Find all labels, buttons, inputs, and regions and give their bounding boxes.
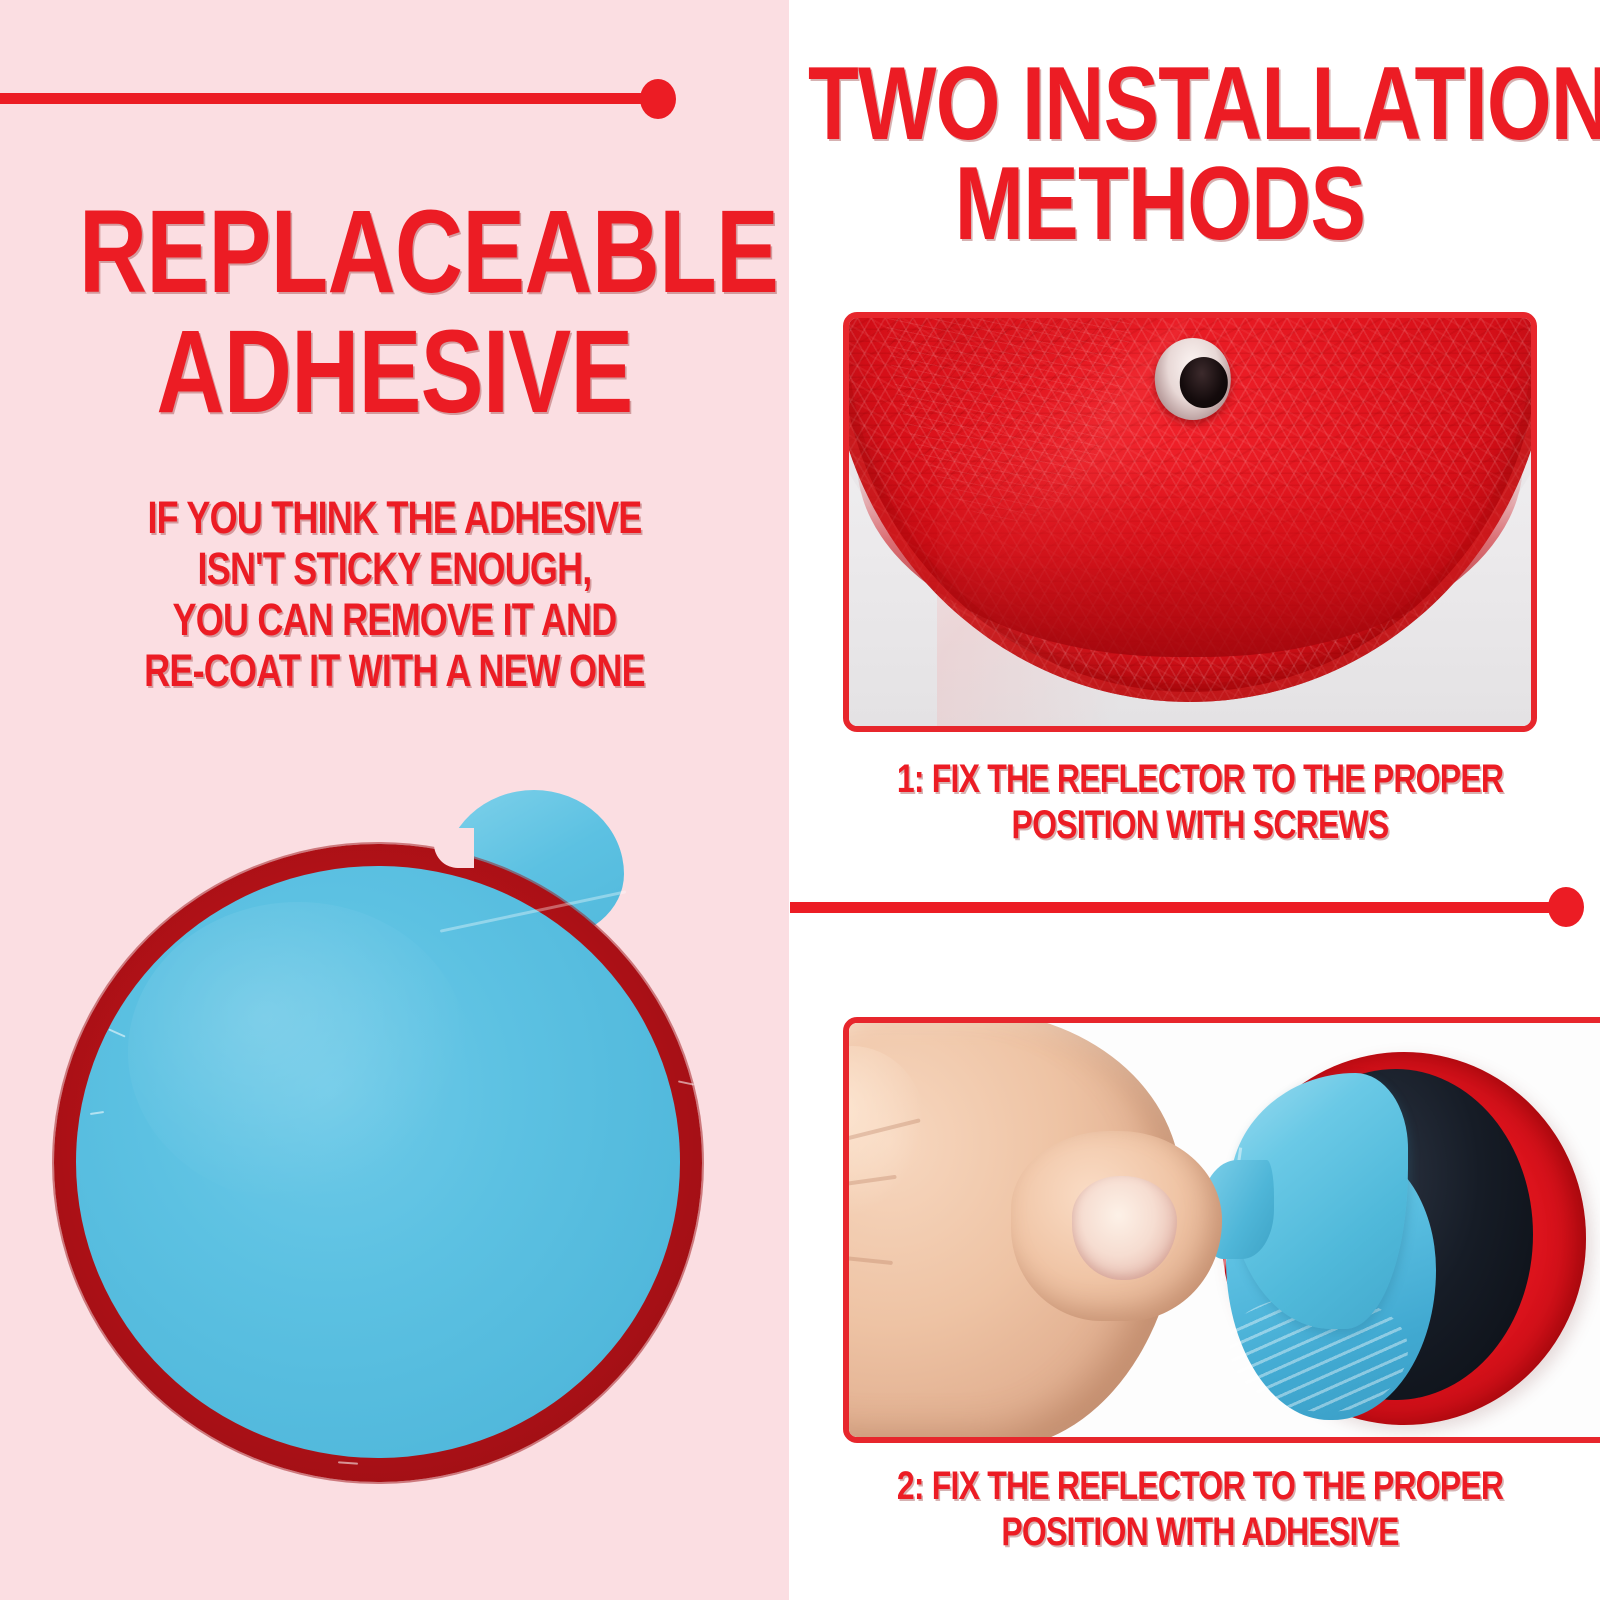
right-headline-line-1: TWO INSTALLATION <box>808 56 1512 152</box>
method-1-photo-frame <box>843 312 1537 732</box>
method-1-caption-line-1: 1: FIX THE REFLECTOR TO THE PROPER <box>872 756 1528 802</box>
method-1-caption: 1: FIX THE REFLECTOR TO THE PROPER POSIT… <box>790 756 1600 848</box>
infographic-canvas: REPLACEABLE ADHESIVE IF YOU THINK THE AD… <box>0 0 1600 1600</box>
hand-crease-3 <box>843 1251 893 1265</box>
left-headline-line-1: REPLACEABLE <box>79 196 710 308</box>
left-headline-line-2: ADHESIVE <box>79 308 710 436</box>
method-2-photo-frame <box>843 1017 1600 1443</box>
left-body-copy: IF YOU THINK THE ADHESIVE ISN'T STICKY E… <box>0 492 789 696</box>
connector-line-middle <box>790 902 1570 913</box>
left-body-line-4: RE-COAT IT WITH A NEW ONE <box>79 645 710 696</box>
right-headline-line-2: METHODS <box>808 152 1512 256</box>
method-2-caption: 2: FIX THE REFLECTOR TO THE PROPER POSIT… <box>790 1463 1600 1555</box>
left-body-line-3: YOU CAN REMOVE IT AND <box>79 594 710 645</box>
left-body-line-2: ISN'T STICKY ENOUGH, <box>79 543 710 594</box>
screw-hole-bore <box>1179 357 1227 408</box>
left-body-line-1: IF YOU THINK THE ADHESIVE <box>79 492 710 543</box>
film-sheen <box>128 902 468 1202</box>
left-headline: REPLACEABLE ADHESIVE <box>0 196 789 436</box>
method-2-caption-line-1: 2: FIX THE REFLECTOR TO THE PROPER <box>872 1463 1528 1509</box>
connector-line-top <box>0 93 660 104</box>
adhesive-film-product-photo <box>38 782 714 1482</box>
method-1-caption-line-2: POSITION WITH SCREWS <box>872 802 1528 848</box>
right-headline: TWO INSTALLATION METHODS <box>720 56 1600 256</box>
connector-dot-middle <box>1548 887 1584 927</box>
connector-dot-top <box>640 79 676 119</box>
method-2-caption-line-2: POSITION WITH ADHESIVE <box>872 1509 1528 1555</box>
